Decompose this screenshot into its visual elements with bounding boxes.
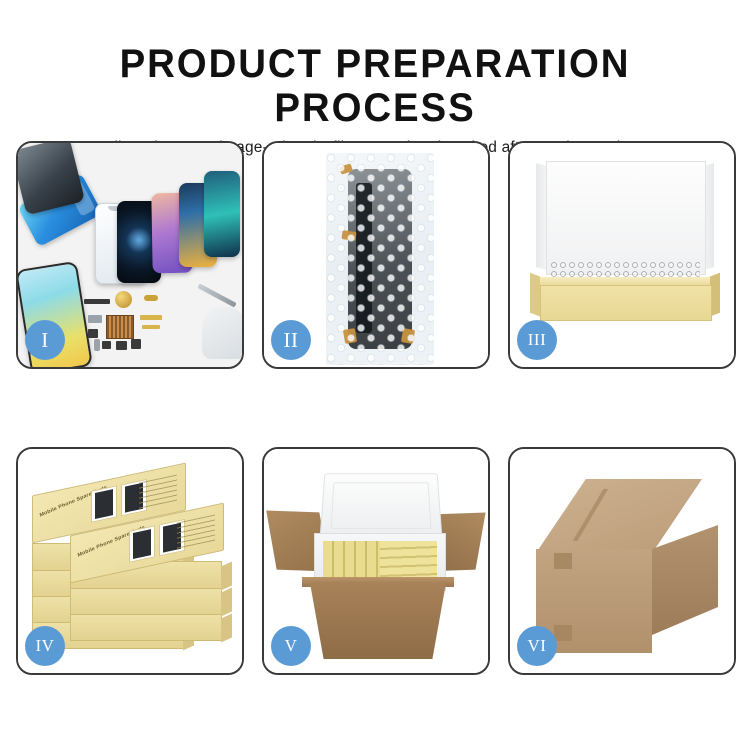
photo-foam-carton-loading: V <box>264 449 488 673</box>
component-small2-icon <box>102 341 111 349</box>
component-small-icon <box>88 329 98 338</box>
component-small4-icon <box>131 339 141 349</box>
tweezers-icon <box>197 283 236 307</box>
component-coin-icon <box>115 291 132 308</box>
photo-parts-overview: I <box>18 143 242 367</box>
photo-boxes-stacked: Mobile Phone Spare Parts Mobile Phone Sp… <box>18 449 242 673</box>
step-badge-1: I <box>25 320 65 360</box>
flex-cable-icon <box>140 315 162 320</box>
component-small3-icon <box>116 341 127 350</box>
component-gold-clip-icon <box>144 295 158 301</box>
steps-grid: I II <box>16 141 734 676</box>
hand-icon <box>202 307 242 359</box>
step-badge-3: III <box>517 320 557 360</box>
step-badge-4: IV <box>25 626 65 666</box>
foam-cooler-lid <box>319 473 442 539</box>
page-title: PRODUCT PREPARATION PROCESS <box>15 42 735 130</box>
carton-tab-upper <box>554 553 572 569</box>
component-silver-icon <box>88 315 102 323</box>
box-front-panel <box>540 285 712 321</box>
step-badge-5: V <box>271 626 311 666</box>
bubble-wrap-bag <box>326 153 434 365</box>
photo-inner-box-packing: III <box>510 143 734 367</box>
carton-front-panel <box>310 583 446 659</box>
step-card-4[interactable]: Mobile Phone Spare Parts Mobile Phone Sp… <box>16 447 244 675</box>
carton-side-panel <box>652 525 718 635</box>
step-badge-6: VI <box>517 626 557 666</box>
header: PRODUCT PREPARATION PROCESS All products… <box>0 0 750 158</box>
step-card-5[interactable]: V <box>262 447 490 675</box>
box-lid-panel <box>546 161 706 275</box>
flex-cable2-icon <box>142 325 160 329</box>
stacked-box-front-4 <box>70 613 222 641</box>
bubble-texture <box>326 153 434 365</box>
product-preparation-infographic: PRODUCT PREPARATION PROCESS All products… <box>0 0 750 750</box>
component-pin-icon <box>94 339 100 351</box>
step-badge-2: II <box>271 320 311 360</box>
step-card-1[interactable]: I <box>16 141 244 369</box>
stacked-box-front-3 <box>70 587 222 615</box>
component-chip-grid-icon <box>106 315 134 339</box>
step-card-3[interactable]: III <box>508 141 736 369</box>
step-card-6[interactable]: VI <box>508 447 736 675</box>
phone-teal-display <box>204 171 240 257</box>
photo-bubble-wrapping: II <box>264 143 488 367</box>
step-card-2[interactable]: II <box>262 141 490 369</box>
component-strip-icon <box>84 299 110 304</box>
carton-tab-lower <box>554 625 572 641</box>
photo-sealed-shipping-carton: VI <box>510 449 734 673</box>
